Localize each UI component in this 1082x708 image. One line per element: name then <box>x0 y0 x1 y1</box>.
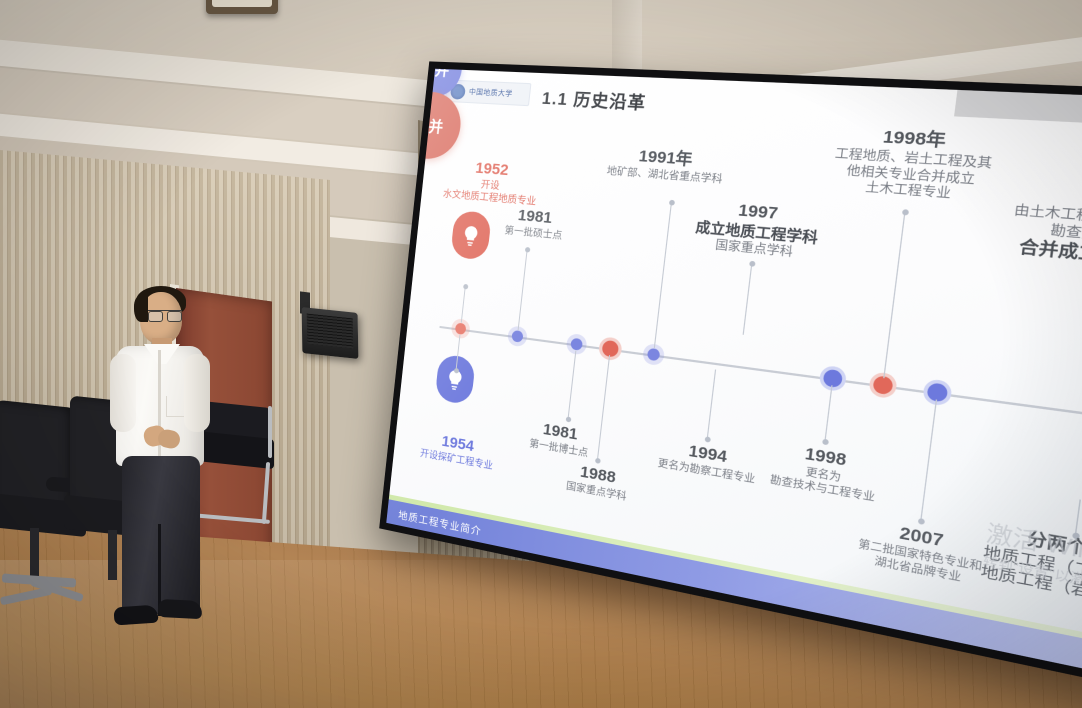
timeline-stem <box>461 286 466 323</box>
timeline-label-1998-above: 1998年 工程地质、岩土工程及其 他相关专业合并成立 土木工程专业 <box>830 125 996 206</box>
university-name: 中国地质大学 <box>468 87 513 99</box>
timeline-node-1981a[interactable] <box>511 330 523 343</box>
timeline-label-1998-below: 1998 更名为 勘查技术与工程专业 <box>769 439 880 505</box>
presenter-trousers <box>122 456 200 614</box>
timeline-label-1991: 1991年 地矿部、湖北省重点学科 <box>606 145 726 187</box>
ceiling-light-fixture <box>206 0 278 14</box>
timeline-stem <box>654 202 672 348</box>
lecture-room-scene: 中国地质大学 1.1 历史沿革 合并 <box>0 0 1082 708</box>
timeline-label-1997: 1997 成立地质工程学科 国家重点学科 <box>693 198 822 264</box>
timeline-stem <box>920 399 937 522</box>
timeline-node-1991[interactable] <box>647 348 660 362</box>
timeline-label-2007: 2007 第二批国家特色专业和 湖北省品牌专业 <box>856 516 986 588</box>
timeline-stem <box>518 249 528 330</box>
timeline-node-1988[interactable] <box>598 336 623 361</box>
timeline-label-1954: 1954 开设探矿工程专业 <box>419 429 495 473</box>
timeline-node-1952[interactable] <box>455 322 467 335</box>
timeline-node-1981b[interactable] <box>570 338 583 351</box>
timeline-label-1952: 1952 开设 水文地质工程地质专业 <box>442 157 540 208</box>
page-title: 1.1 历史沿革 <box>541 84 648 115</box>
timeline-stem <box>1075 499 1081 536</box>
timeline-node-1998a[interactable] <box>818 365 847 393</box>
presenter-hair-side <box>134 296 148 322</box>
presenter-right-shoe <box>158 599 203 619</box>
timeline-stem <box>597 355 610 461</box>
timeline-bulb-icon-1954 <box>435 353 476 405</box>
wall-speaker <box>302 307 359 359</box>
timeline-label-1988: 1988 国家重点学科 <box>565 461 629 504</box>
timeline-label-1981-above: 1981 第一批硕士点 <box>504 205 565 242</box>
timeline-label-1981-below: 1981 第一批博士点 <box>529 418 591 460</box>
timeline-label-1994: 1994 更名为勘察工程专业 <box>657 437 758 487</box>
timeline-stem <box>567 350 576 420</box>
timeline-node-2007[interactable] <box>922 378 953 407</box>
timeline-label-2009: 2009 由土木工程专业工程地质方向、 勘查技术与工程专业 合并成立地质工程专业 <box>1008 174 1082 278</box>
presenter-left-shoe <box>113 604 158 625</box>
presenter-right-arm <box>184 354 210 432</box>
university-logo: 中国地质大学 <box>445 79 532 106</box>
presenter <box>100 288 218 638</box>
timeline-stem <box>883 212 905 379</box>
timeline-stem <box>707 369 717 440</box>
glasses-icon <box>148 310 182 320</box>
timeline-stem <box>824 385 832 442</box>
timeline-bulb-icon-1952 <box>450 210 492 261</box>
timeline-desc: 合并成立地质工程专业 <box>1008 236 1082 278</box>
presenter-left-arm <box>110 354 136 432</box>
timeline-stem <box>743 263 753 335</box>
